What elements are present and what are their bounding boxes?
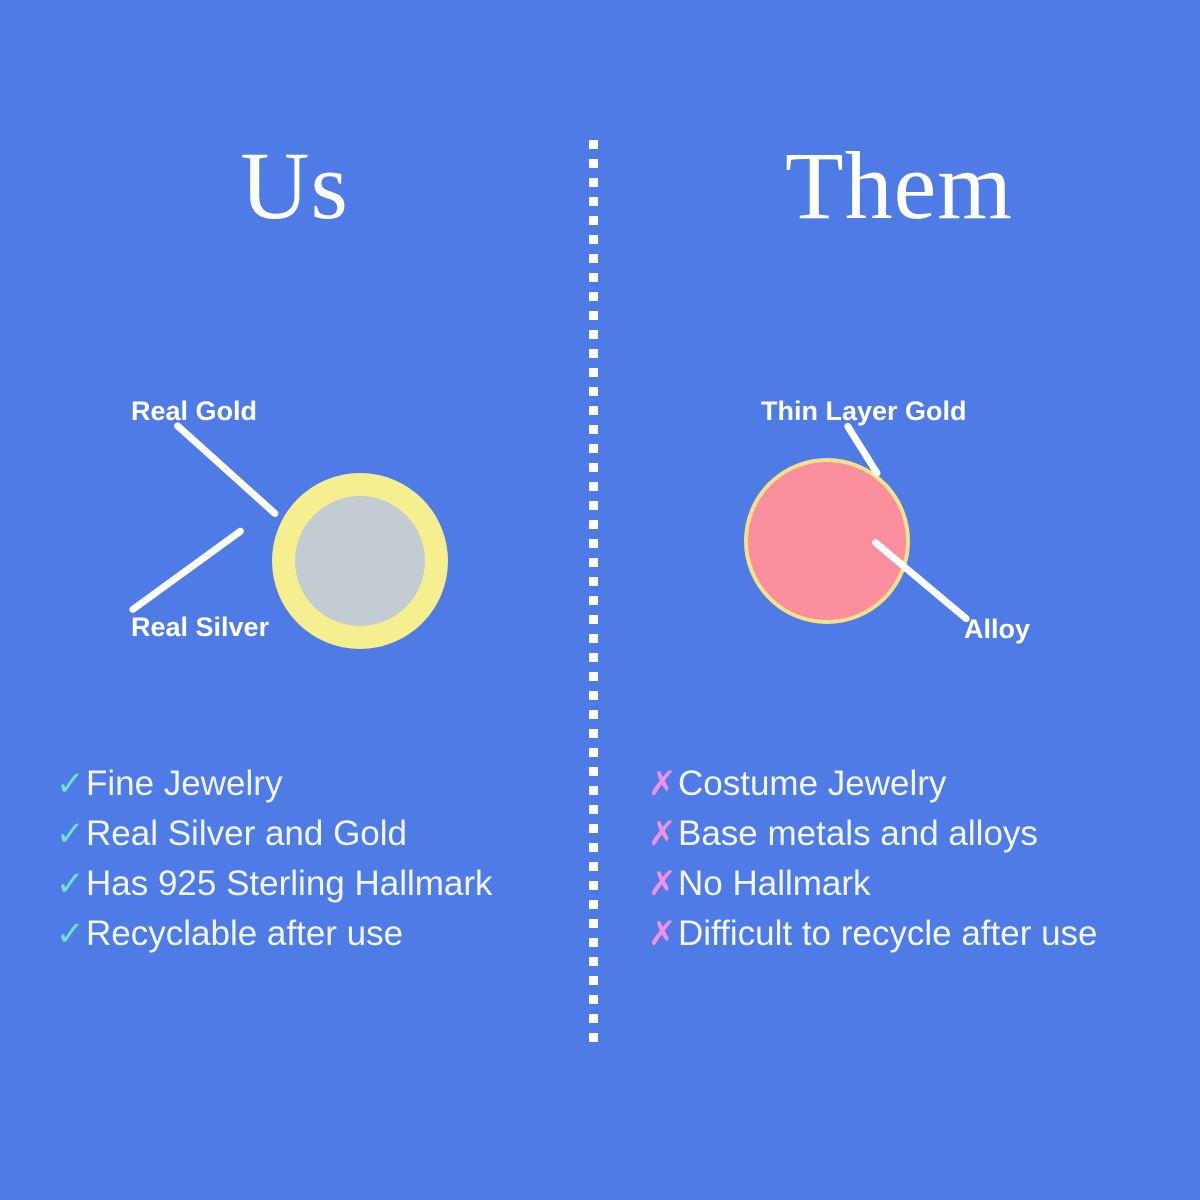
list-item: ✗ Difficult to recycle after use (648, 916, 1200, 966)
cross-icon: ✗ (648, 867, 678, 901)
list-item-label: Costume Jewelry (678, 766, 946, 801)
list-item-label: No Hallmark (678, 866, 871, 901)
check-icon: ✓ (56, 867, 86, 901)
callout-real-gold: Real Gold (131, 398, 257, 425)
check-icon: ✓ (56, 767, 86, 801)
leader-line-real-silver (128, 526, 245, 614)
check-icon: ✓ (56, 917, 86, 951)
column-us: Us Real Gold Real Silver ✓ Fine Jewelry … (0, 0, 589, 1200)
list-item: ✓ Real Silver and Gold (56, 816, 645, 866)
feature-list-us: ✓ Fine Jewelry ✓ Real Silver and Gold ✓ … (0, 766, 645, 966)
check-icon: ✓ (56, 817, 86, 851)
list-item-label: Recyclable after use (86, 916, 403, 951)
dotted-divider (589, 140, 598, 1052)
list-item-label: Base metals and alloys (678, 816, 1038, 851)
alloy-disc-shape (744, 458, 910, 624)
list-item: ✓ Recyclable after use (56, 916, 645, 966)
list-item: ✓ Has 925 Sterling Hallmark (56, 866, 645, 916)
list-item: ✓ Fine Jewelry (56, 766, 645, 816)
column-them: Them Thin Layer Gold Alloy ✗ Costume Jew… (598, 0, 1200, 1200)
feature-list-them: ✗ Costume Jewelry ✗ Base metals and allo… (598, 766, 1200, 966)
callout-alloy: Alloy (964, 616, 1030, 643)
list-item-label: Fine Jewelry (86, 766, 282, 801)
silver-core-shape (295, 496, 425, 626)
list-item: ✗ Base metals and alloys (648, 816, 1200, 866)
cross-icon: ✗ (648, 817, 678, 851)
diagram-us: Real Gold Real Silver (0, 370, 589, 670)
list-item: ✗ Costume Jewelry (648, 766, 1200, 816)
list-item-label: Has 925 Sterling Hallmark (86, 866, 493, 901)
list-item-label: Difficult to recycle after use (678, 916, 1098, 951)
callout-thin-layer-gold: Thin Layer Gold (761, 398, 967, 425)
heading-us: Us (0, 138, 629, 234)
leader-line-real-gold (173, 421, 280, 519)
list-item-label: Real Silver and Gold (86, 816, 407, 851)
diagram-them: Thin Layer Gold Alloy (598, 370, 1200, 670)
comparison-infographic: Us Real Gold Real Silver ✓ Fine Jewelry … (0, 0, 1200, 1200)
list-item: ✗ No Hallmark (648, 866, 1200, 916)
callout-real-silver: Real Silver (131, 614, 269, 641)
cross-icon: ✗ (648, 767, 678, 801)
cross-icon: ✗ (648, 917, 678, 951)
heading-them: Them (598, 138, 1200, 234)
